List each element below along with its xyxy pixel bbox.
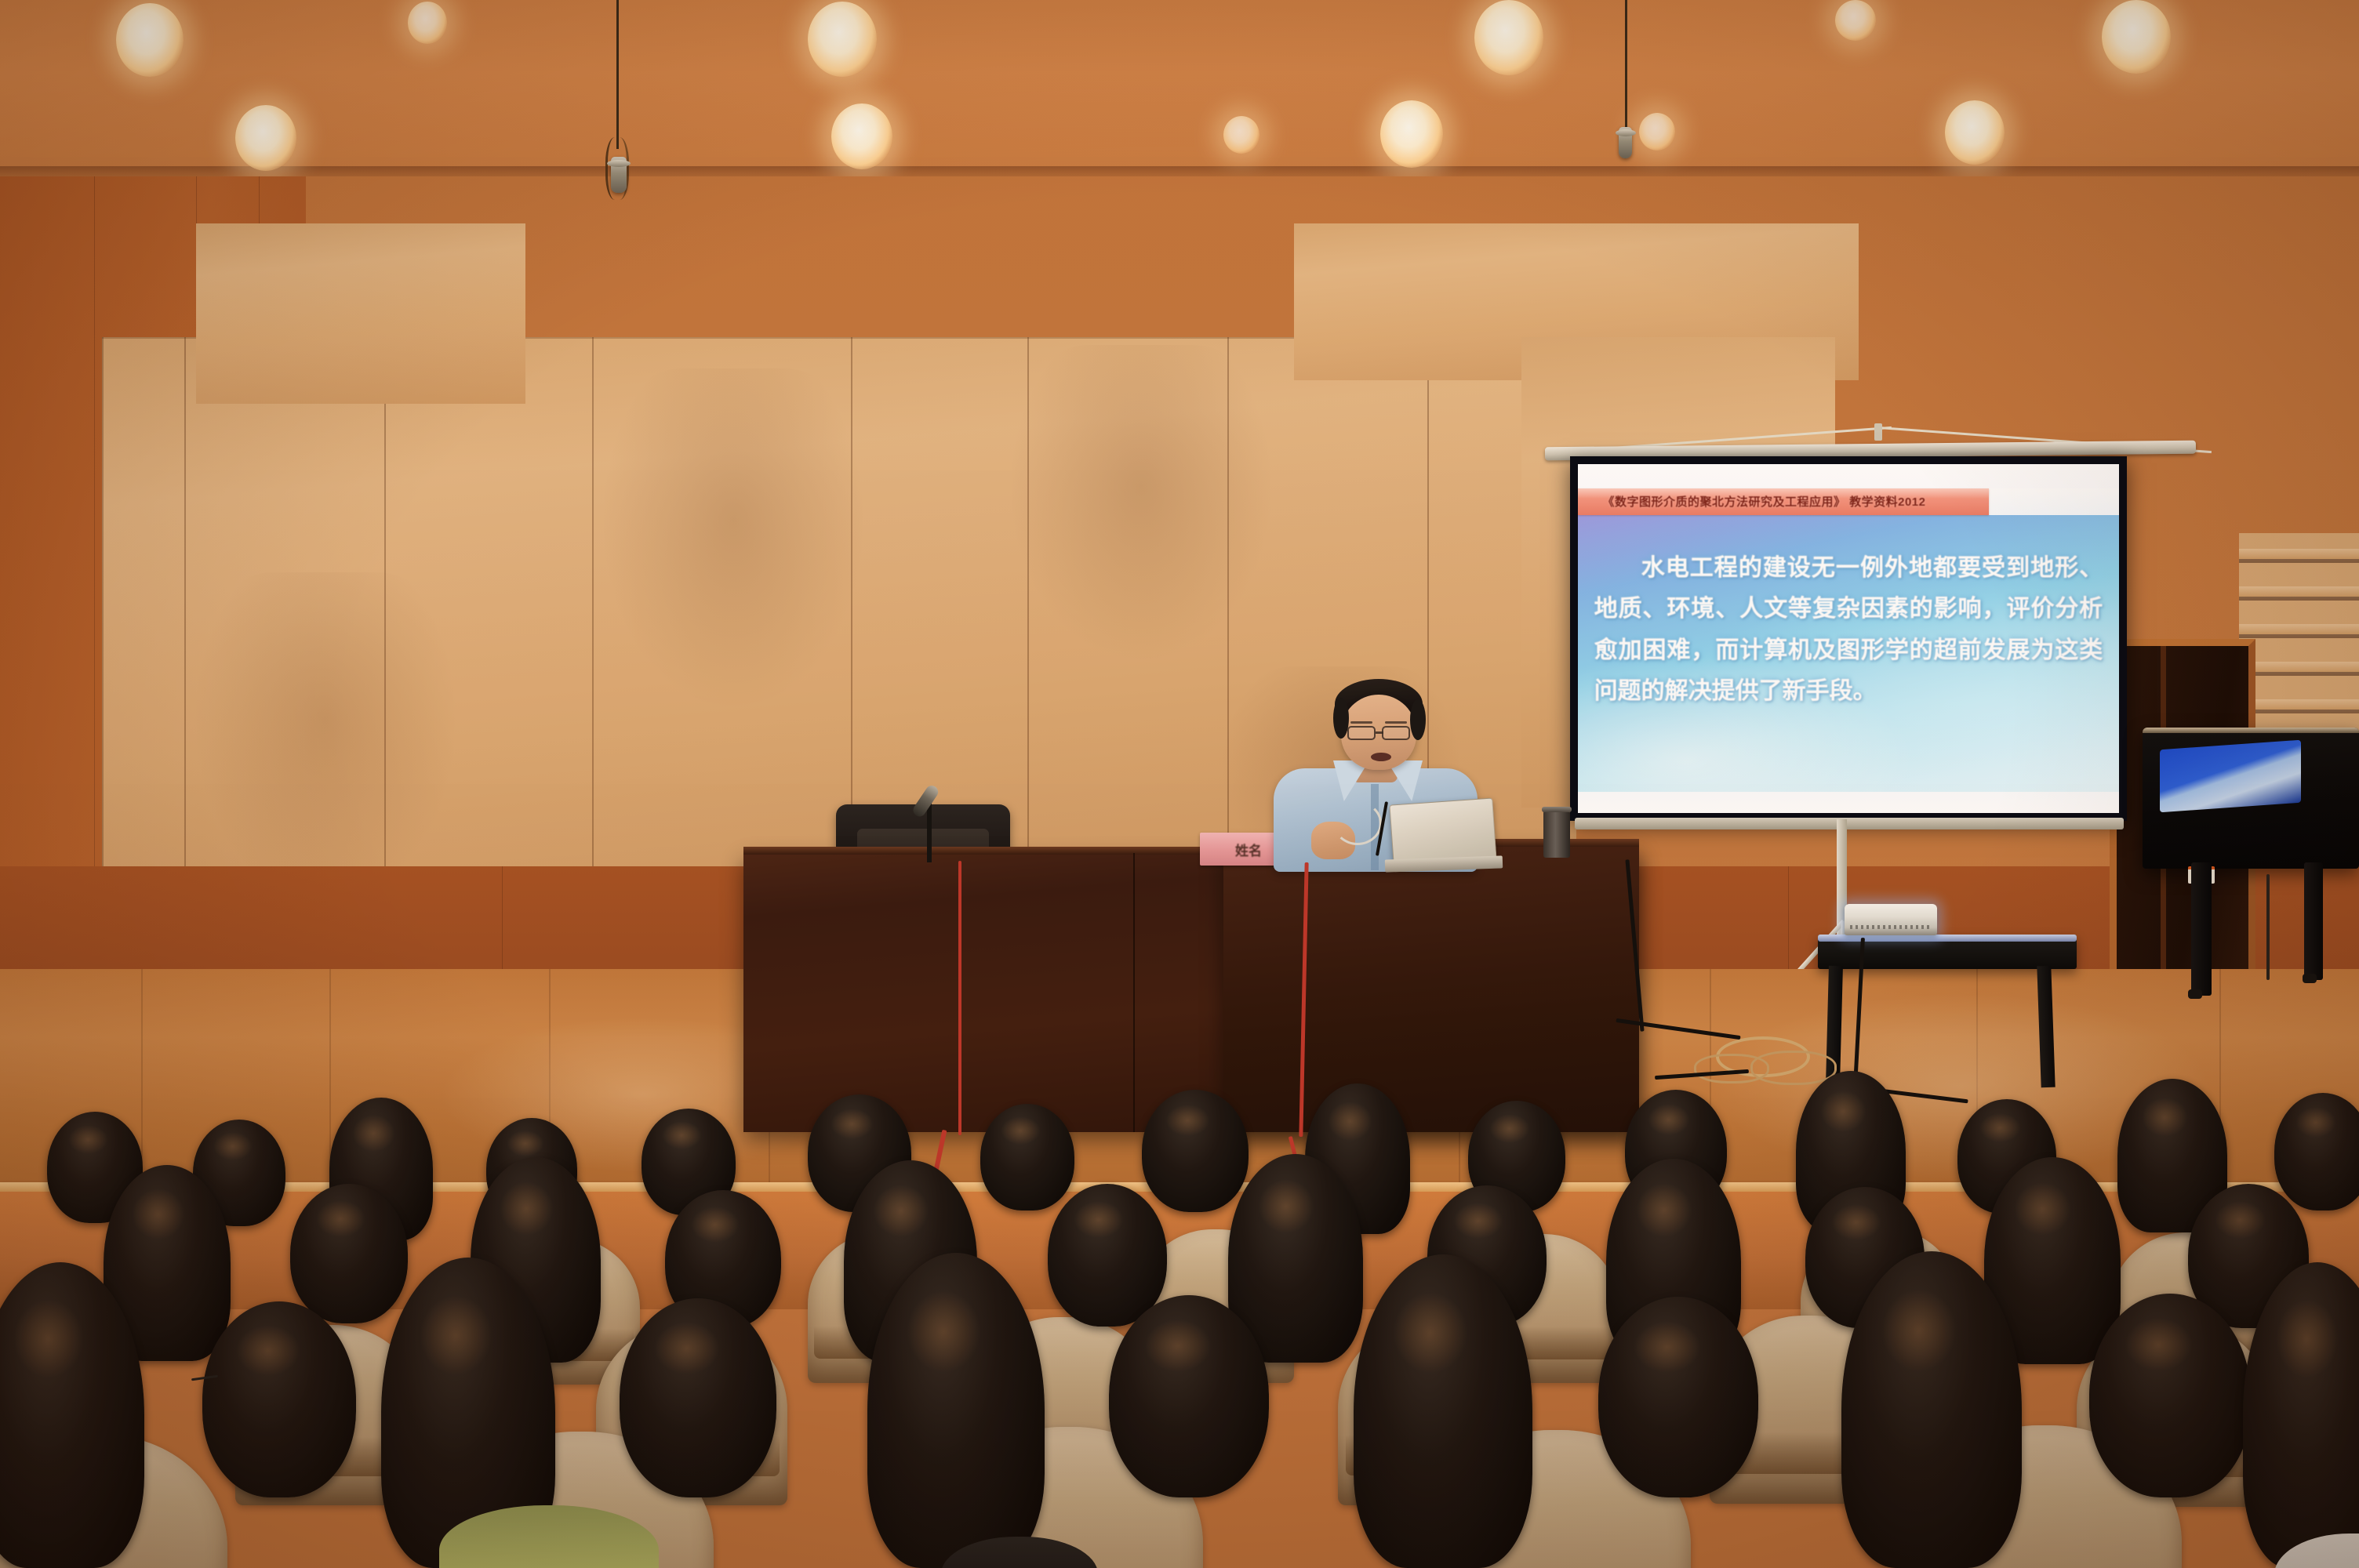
audience-head bbox=[1354, 1254, 1532, 1568]
eyeglasses bbox=[1382, 726, 1410, 740]
screen-center-hook bbox=[1874, 423, 1882, 441]
slide-body-text: 水电工程的建设无一例外地都要受到地形、地质、环境、人文等复杂因素的影响，评价分析… bbox=[1594, 548, 2103, 713]
acoustic-panel-upper-left bbox=[196, 223, 525, 404]
travel-mug bbox=[1543, 811, 1570, 858]
audience-head bbox=[867, 1253, 1045, 1568]
piano-leg bbox=[2304, 862, 2323, 980]
audience-head bbox=[290, 1184, 408, 1323]
downlight bbox=[1223, 116, 1259, 154]
downlight bbox=[1835, 0, 1876, 41]
piano-caster bbox=[2303, 974, 2317, 983]
audience-head bbox=[1109, 1295, 1269, 1497]
downlight bbox=[2102, 0, 2171, 74]
slide-bottom-white-band bbox=[1578, 792, 2119, 813]
audience bbox=[0, 1066, 2359, 1568]
presenter-mouth bbox=[1371, 753, 1391, 761]
downlight bbox=[408, 2, 447, 44]
downlight bbox=[1945, 100, 2005, 165]
audience-head bbox=[202, 1301, 356, 1497]
audience-head bbox=[2089, 1294, 2251, 1497]
ceiling bbox=[0, 0, 2359, 182]
slide-title-white-block bbox=[1989, 488, 2119, 514]
downlight bbox=[116, 3, 184, 77]
powerpoint-slide: 《数字图形介质的聚北方法研究及工程应用》 教学资料2012 水电工程的建设无一例… bbox=[1578, 464, 2119, 813]
screen-frame: 《数字图形介质的聚北方法研究及工程应用》 教学资料2012 水电工程的建设无一例… bbox=[1570, 456, 2127, 821]
hanging-mic-cable bbox=[1625, 0, 1627, 129]
presenter-hair-side bbox=[1333, 698, 1349, 739]
piano-lid-reflection bbox=[2160, 740, 2301, 813]
downlight bbox=[235, 105, 296, 171]
presenter-hair-side bbox=[1410, 699, 1426, 740]
slide-title-bar: 《数字图形介质的聚北方法研究及工程应用》 教学资料2012 bbox=[1578, 488, 1989, 514]
audience-head bbox=[1142, 1090, 1249, 1212]
eyeglasses bbox=[1347, 726, 1376, 740]
nameplate-text: 姓名 bbox=[1235, 840, 1262, 859]
audience-head bbox=[1841, 1251, 2022, 1568]
auditorium-photo: 《数字图形介质的聚北方法研究及工程应用》 教学资料2012 水电工程的建设无一例… bbox=[0, 0, 2359, 1568]
piano-bench bbox=[1818, 935, 2077, 969]
audience-head bbox=[2274, 1093, 2359, 1210]
data-projector bbox=[1845, 904, 1937, 935]
piano-pedal-rod bbox=[2266, 874, 2270, 980]
downlight bbox=[1474, 0, 1543, 75]
hanging-microphone bbox=[1619, 127, 1632, 158]
eyeglasses-bridge bbox=[1376, 731, 1383, 734]
slide-top-white-band bbox=[1578, 464, 2119, 488]
piano-leg bbox=[2191, 862, 2212, 996]
presenter-brow bbox=[1350, 721, 1372, 724]
hanging-microphone bbox=[611, 157, 627, 193]
downlight bbox=[1380, 100, 1443, 168]
presenter-brow bbox=[1385, 721, 1407, 724]
downlight bbox=[808, 2, 877, 77]
hanging-mic-cable bbox=[616, 0, 619, 149]
screen-surface: 《数字图形介质的聚北方法研究及工程应用》 教学资料2012 水电工程的建设无一例… bbox=[1578, 464, 2119, 813]
audience-head bbox=[1598, 1297, 1758, 1497]
downlight bbox=[1639, 113, 1675, 151]
downlight bbox=[831, 103, 892, 169]
audience-head bbox=[1048, 1184, 1167, 1327]
piano-caster bbox=[2188, 989, 2202, 999]
audience-head bbox=[620, 1298, 776, 1497]
grand-piano bbox=[2143, 728, 2359, 869]
gooseneck-microphone bbox=[1333, 801, 1382, 845]
screen-bottom-bar bbox=[1575, 818, 2124, 829]
slide-title-text: 《数字图形介质的聚北方法研究及工程应用》 教学资料2012 bbox=[1578, 493, 1926, 510]
audience-head bbox=[980, 1104, 1074, 1210]
